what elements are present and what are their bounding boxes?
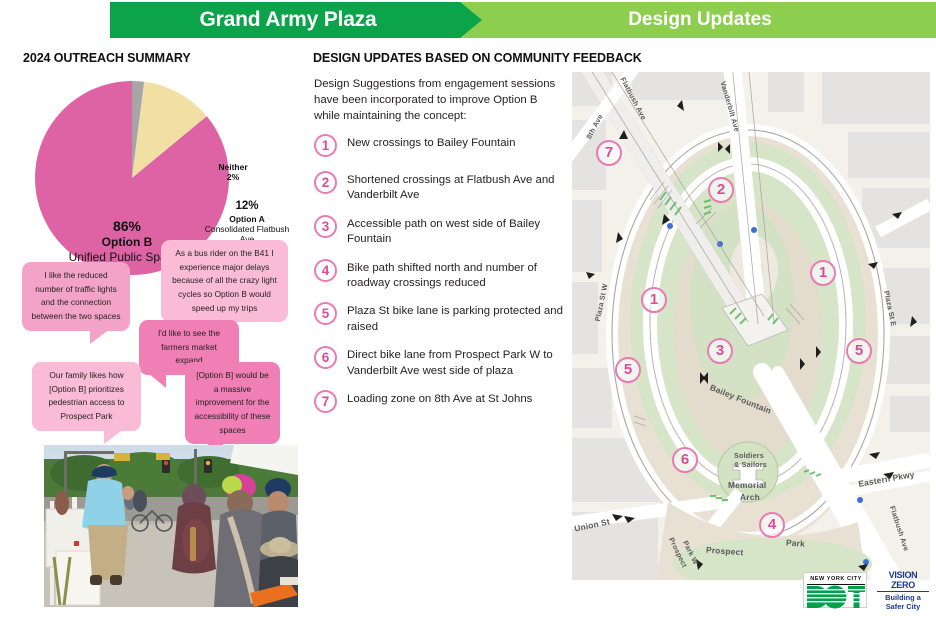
map-marker[interactable]: 5	[615, 357, 641, 383]
list-item: 1 New crossings to Bailey Fountain	[314, 134, 566, 160]
vision-zero-line2: ZERO	[873, 581, 933, 591]
list-item-label: Loading zone on 8th Ave at St Johns	[347, 390, 532, 407]
outreach-summary-title: 2024 OUTREACH SUMMARY	[23, 51, 191, 65]
poster-page: Grand Army Plaza Design Updates 2024 OUT…	[0, 0, 936, 625]
page-title: Grand Army Plaza	[118, 8, 458, 32]
list-item-label: New crossings to Bailey Fountain	[347, 134, 515, 151]
list-number-badge: 5	[314, 302, 337, 325]
bubble-tail	[104, 429, 124, 444]
bubble-tail	[90, 329, 110, 344]
monument-label: Soldiers	[734, 451, 764, 460]
pie-a-percent: 12%	[202, 200, 292, 214]
monument-label: Arch	[740, 492, 760, 502]
pie-graphic	[32, 78, 232, 214]
vision-zero-tagline2: Safer City	[873, 602, 933, 611]
pie-n-percent: 2%	[198, 172, 268, 182]
pie-a-name: Option A	[202, 214, 292, 224]
list-number-badge: 2	[314, 171, 337, 194]
list-number-badge: 1	[314, 134, 337, 157]
quote-bubble: Our family likes how [Option B] prioriti…	[32, 362, 141, 431]
list-item-label: Shortened crossings at Flatbush Ave and …	[347, 171, 566, 204]
quote-bubble: I like the reduced number of traffic lig…	[22, 262, 130, 331]
list-item: 6 Direct bike lane from Prospect Park W …	[314, 346, 566, 379]
design-updates-list: 1 New crossings to Bailey Fountain 2 Sho…	[314, 134, 566, 427]
grand-army-plaza-map[interactable]: 8th Ave Flatbush Ave Vanderbilt Ave Plaz…	[572, 72, 930, 580]
quote-text: I'd like to see the farmers market expan…	[158, 328, 220, 365]
list-item: 2 Shortened crossings at Flatbush Ave an…	[314, 171, 566, 204]
map-marker[interactable]: 3	[707, 338, 733, 364]
quote-text: I like the reduced number of traffic lig…	[31, 270, 120, 321]
quote-text: [Option B] would be a massive improvemen…	[194, 370, 270, 435]
outreach-event-photo	[44, 445, 298, 607]
quote-text: As a bus rider on the B41 I experience m…	[172, 248, 277, 313]
quote-bubble: As a bus rider on the B41 I experience m…	[161, 240, 288, 322]
list-number-badge: 6	[314, 346, 337, 369]
pie-b-percent: 86%	[67, 218, 187, 235]
map-marker[interactable]: 6	[672, 447, 698, 473]
list-item: 5 Plaza St bike lane is parking protecte…	[314, 302, 566, 335]
quote-bubble: [Option B] would be a massive improvemen…	[185, 362, 280, 444]
pie-label-option-a: 12% Option A Consolidated Flatbush Ave	[202, 200, 292, 244]
map-marker[interactable]: 1	[641, 287, 667, 313]
dot-logo-top-text: NEW YORK CITY	[807, 575, 865, 583]
vision-zero-rule	[877, 591, 929, 592]
map-graphic	[572, 72, 930, 580]
quote-text: Our family likes how [Option B] prioriti…	[48, 370, 124, 421]
park-label: Park	[786, 537, 806, 548]
list-item: 3 Accessible path on west side of Bailey…	[314, 215, 566, 248]
design-updates-intro: Design Suggestions from engagement sessi…	[314, 76, 562, 125]
list-number-badge: 7	[314, 390, 337, 413]
map-marker[interactable]: 4	[759, 512, 785, 538]
bubble-tail	[148, 373, 166, 388]
vision-zero-logo: VISION ZERO Building a Safer City	[873, 571, 933, 611]
list-item: 4 Bike path shifted north and number of …	[314, 259, 566, 292]
list-number-badge: 3	[314, 215, 337, 238]
list-number-badge: 4	[314, 259, 337, 282]
list-item-label: Accessible path on west side of Bailey F…	[347, 215, 566, 248]
monument-label: Memorial	[728, 480, 766, 490]
list-item-label: Plaza St bike lane is parking protected …	[347, 302, 566, 335]
vision-zero-tagline1: Building a	[873, 593, 933, 602]
header-right-title: Design Updates	[545, 8, 855, 32]
design-updates-title: DESIGN UPDATES BASED ON COMMUNITY FEEDBA…	[313, 51, 642, 65]
agency-logos: NEW YORK CITY VISION ZERO	[803, 571, 933, 611]
map-marker[interactable]: 1	[810, 260, 836, 286]
list-item-label: Bike path shifted north and number of ro…	[347, 259, 566, 292]
list-item-label: Direct bike lane from Prospect Park W to…	[347, 346, 566, 379]
monument-label: & Sailors	[734, 460, 767, 469]
map-marker[interactable]: 5	[846, 338, 872, 364]
pie-label-neither: Neither 2%	[198, 162, 268, 182]
map-marker[interactable]: 7	[596, 140, 622, 166]
list-item: 7 Loading zone on 8th Ave at St Johns	[314, 390, 566, 416]
outreach-pie-chart: 86% Option B Unified Public Spaces 12% O…	[32, 78, 232, 214]
pie-n-name: Neither	[198, 162, 268, 172]
page-header: Grand Army Plaza Design Updates	[0, 0, 936, 40]
nyc-dot-logo: NEW YORK CITY	[803, 572, 867, 608]
map-marker[interactable]: 2	[708, 177, 734, 203]
